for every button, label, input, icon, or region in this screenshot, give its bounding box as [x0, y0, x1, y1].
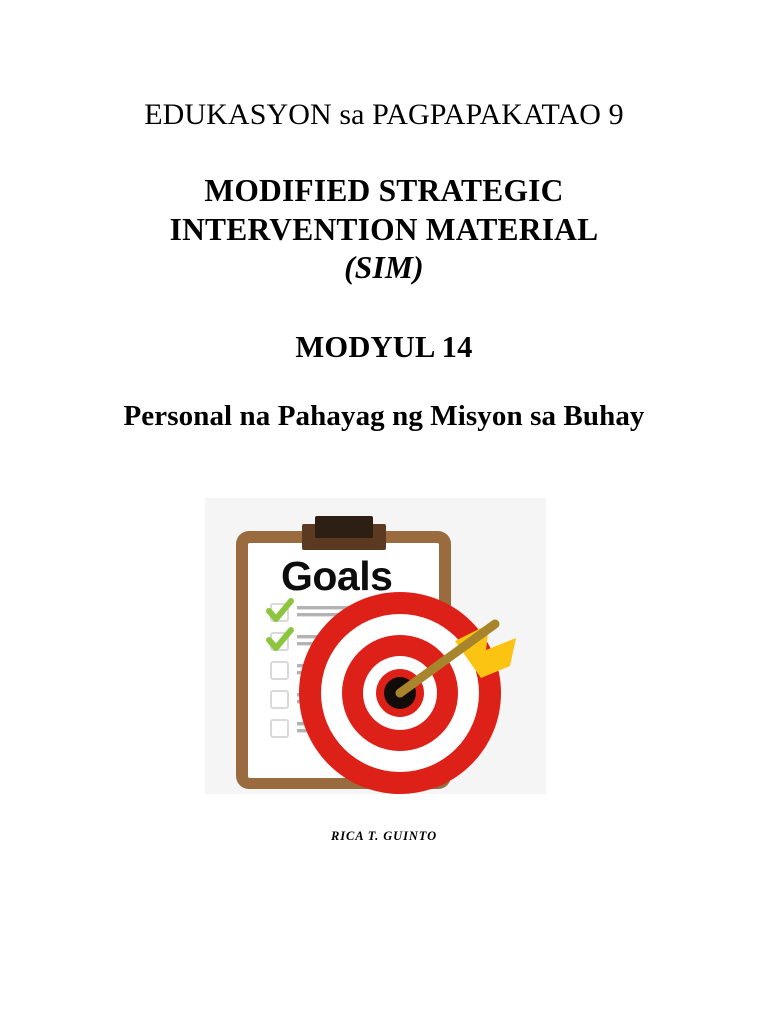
- checkbox-4: [271, 691, 288, 708]
- clipboard-clip-inner: [315, 516, 373, 538]
- material-title-line-1: MODIFIED STRATEGIC: [0, 172, 768, 210]
- cover-illustration: Goals: [205, 498, 546, 794]
- material-title-abbreviation: (SIM): [0, 249, 768, 287]
- goals-target-graphic: Goals: [205, 498, 546, 794]
- module-subtitle: Personal na Pahayag ng Misyon sa Buhay: [0, 398, 768, 435]
- checkbox-5: [271, 720, 288, 737]
- module-number-line: MODYUL 14: [0, 329, 768, 366]
- document-page: EDUKASYON sa PAGPAPAKATAO 9 MODIFIED STR…: [0, 0, 768, 1024]
- material-title-line-2: INTERVENTION MATERIAL: [0, 211, 768, 249]
- material-title-block: MODIFIED STRATEGIC INTERVENTION MATERIAL…: [0, 172, 768, 287]
- title-area: EDUKASYON sa PAGPAPAKATAO 9 MODIFIED STR…: [0, 0, 768, 435]
- author-credit: RICA T. GUINTO: [0, 829, 768, 844]
- course-line: EDUKASYON sa PAGPAPAKATAO 9: [0, 97, 768, 132]
- goals-heading-text: Goals: [281, 553, 392, 599]
- checkbox-3: [271, 662, 288, 679]
